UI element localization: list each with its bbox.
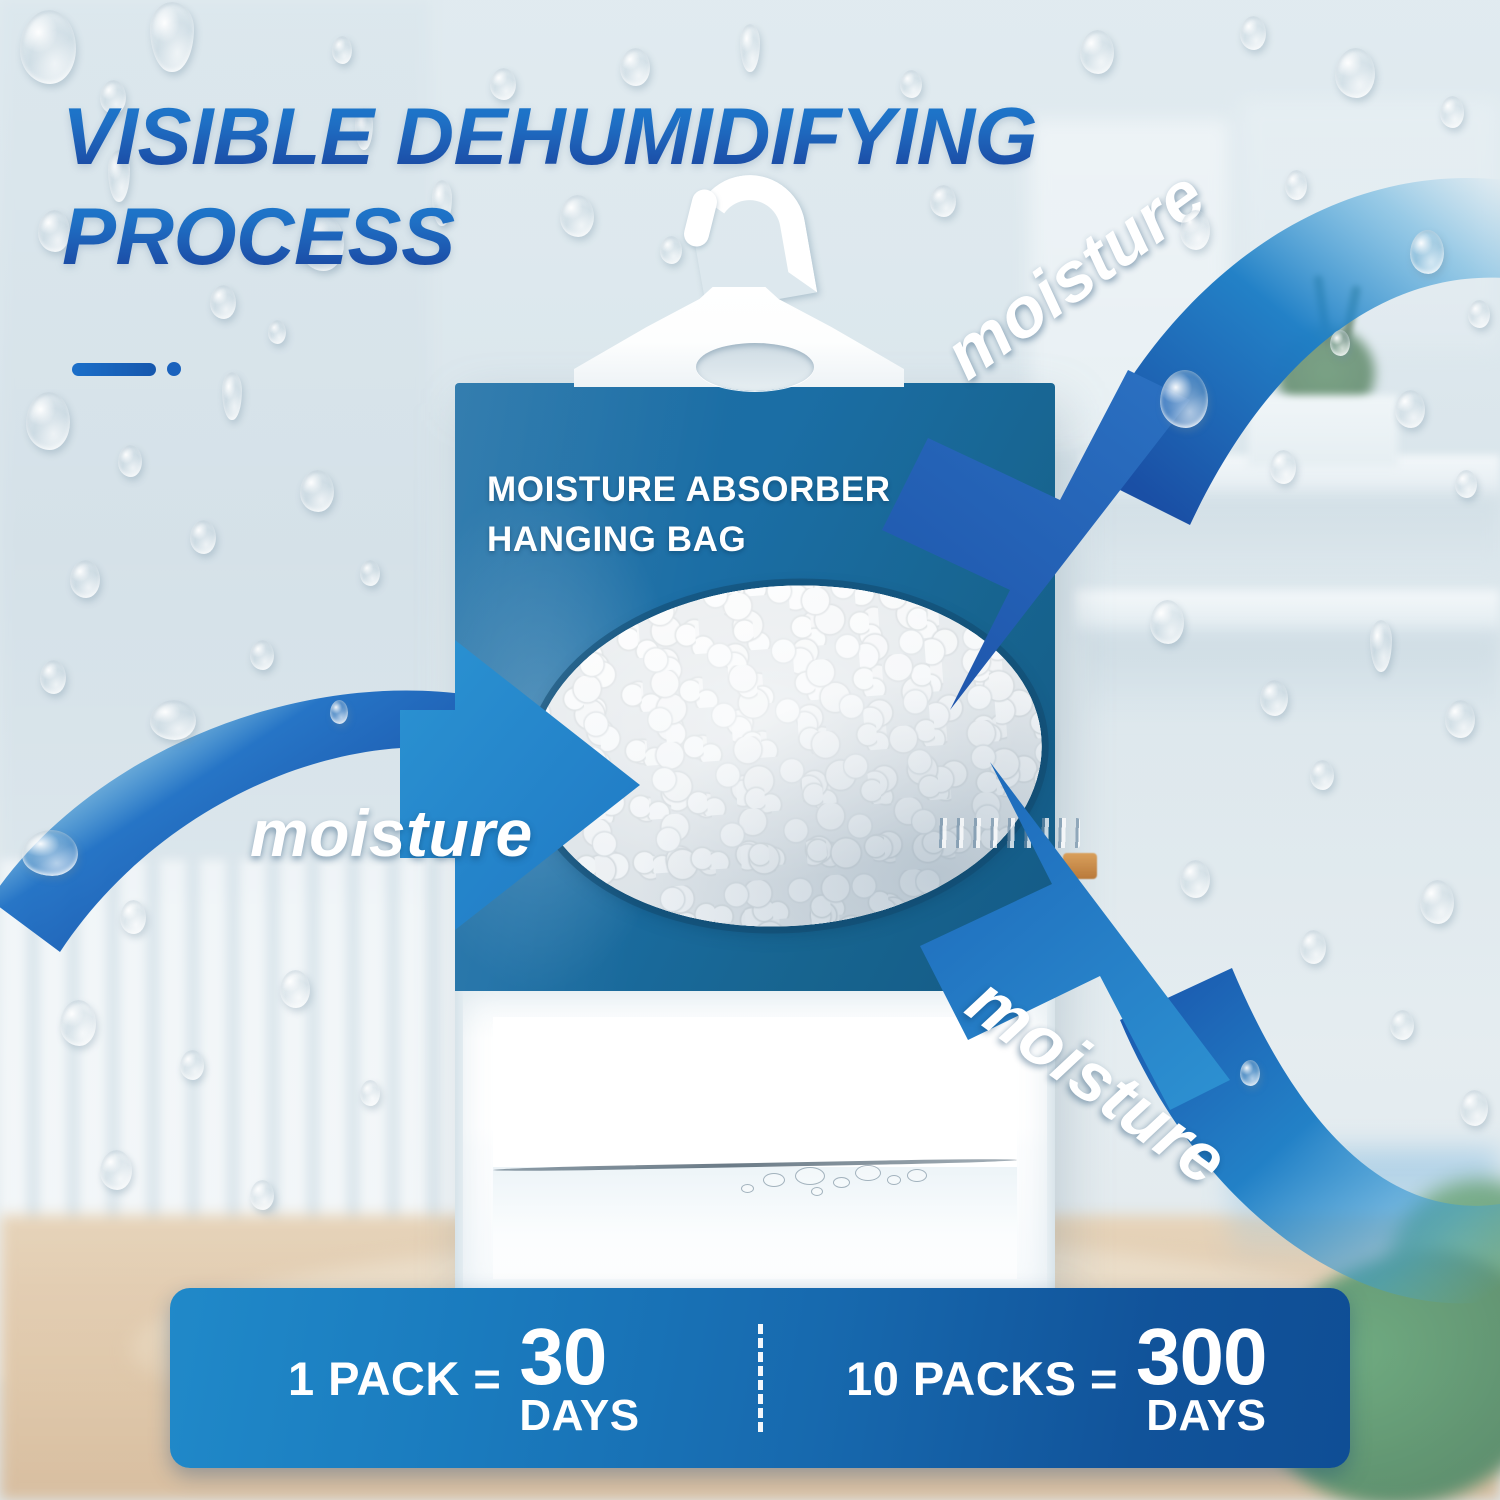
moisture-label-left: moisture (250, 795, 533, 871)
ten-pack-equation: 10 PACKS = (846, 1351, 1118, 1406)
page-title-line-2: PROCESS (62, 188, 1402, 288)
single-pack-equation: 1 PACK = (288, 1351, 501, 1406)
product-infographic: MOISTURE ABSORBER HANGING BAG (0, 0, 1500, 1500)
arrow-top-head (882, 370, 1190, 710)
water-bubble (763, 1173, 785, 1187)
water-bubble (741, 1184, 754, 1193)
accent-dot (167, 362, 181, 376)
arrow-left-head (400, 640, 640, 930)
duration-banner: 1 PACK = 30 DAYS 10 PACKS = 300 DAYS (170, 1288, 1350, 1468)
ten-pack-value: 300 DAYS (1136, 1321, 1266, 1436)
title-accent-rule (72, 362, 181, 376)
single-pack-days-number: 30 (519, 1321, 606, 1393)
accent-bar (72, 363, 156, 376)
single-pack-days-unit: DAYS (519, 1396, 639, 1436)
ten-pack-days-unit: DAYS (1146, 1396, 1266, 1436)
ten-pack-days-number: 300 (1136, 1321, 1266, 1393)
duration-ten-pack: 10 PACKS = 300 DAYS (763, 1321, 1351, 1436)
page-title: VISIBLE DEHUMIDIFYING PROCESS (62, 88, 1402, 287)
duration-single-pack: 1 PACK = 30 DAYS (170, 1321, 758, 1436)
page-title-line-1: VISIBLE DEHUMIDIFYING (62, 88, 1402, 188)
moisture-arrow-bottom-right (800, 780, 1500, 1340)
single-pack-value: 30 DAYS (519, 1321, 639, 1436)
